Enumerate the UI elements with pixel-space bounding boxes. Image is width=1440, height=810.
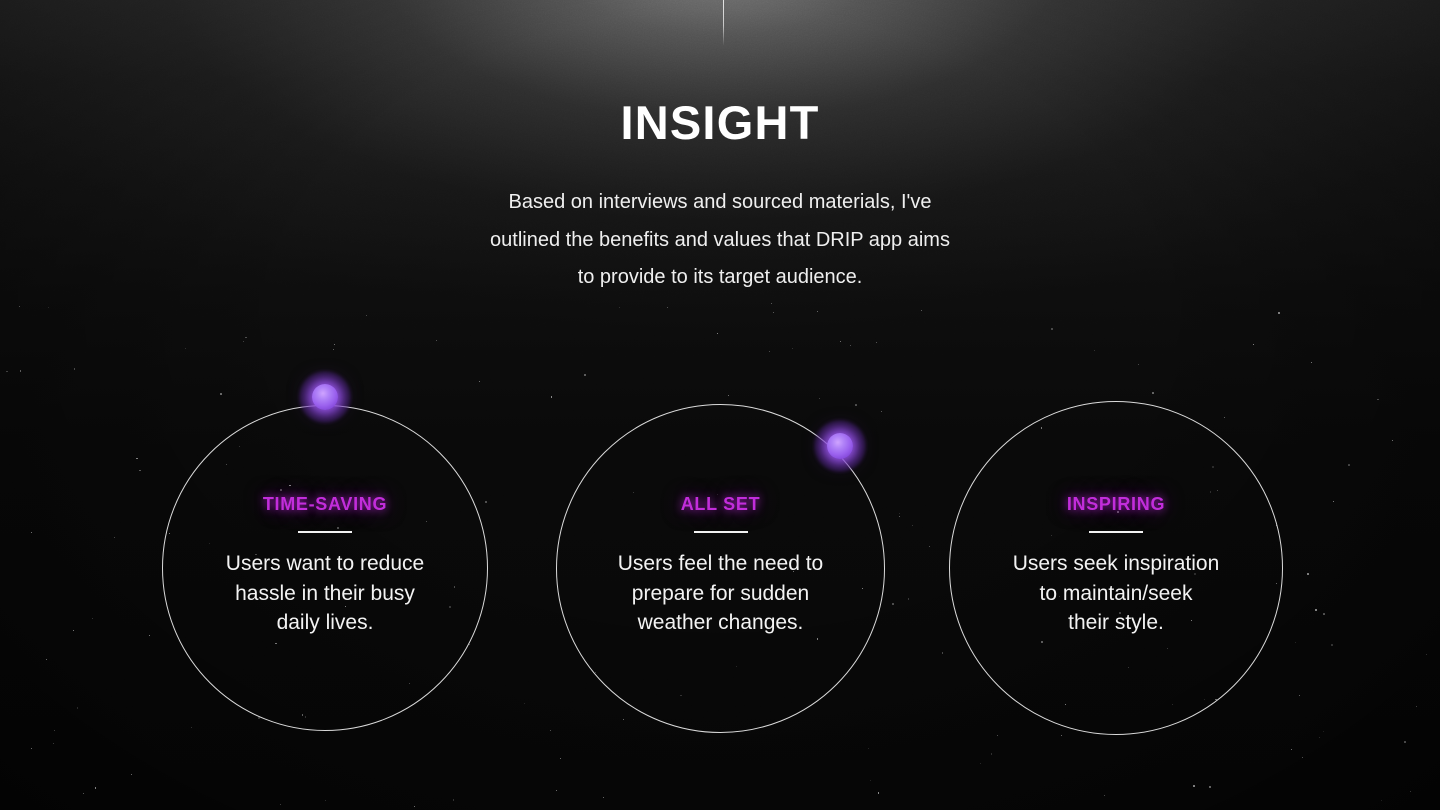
insight-circle-3-body: INSPIRING Users seek inspiration to main… [991, 494, 1241, 638]
insight-circle-3[interactable]: INSPIRING Users seek inspiration to main… [949, 401, 1283, 735]
insight-circle-1-body: TIME-SAVING Users want to reduce hassle … [200, 494, 450, 638]
text-line: Users feel the need to [596, 549, 846, 579]
orb-core [312, 384, 338, 410]
insight-circle-1-title: TIME-SAVING [200, 494, 450, 515]
text-line: Users want to reduce [200, 549, 450, 579]
text-line: prepare for sudden [596, 579, 846, 609]
insight-circle-2-body: ALL SET Users feel the need to prepare f… [596, 494, 846, 638]
divider [298, 531, 352, 533]
text-line: their style. [991, 608, 1241, 638]
text-line: to maintain/seek [991, 579, 1241, 609]
insight-circles-row: TIME-SAVING Users want to reduce hassle … [0, 0, 1440, 810]
insight-circle-3-title: INSPIRING [991, 494, 1241, 515]
divider [694, 531, 748, 533]
orbit-orb-1 [299, 371, 351, 423]
orbit-orb-2 [814, 420, 866, 472]
insight-slide: INSIGHT Based on interviews and sourced … [0, 0, 1440, 810]
text-line: daily lives. [200, 608, 450, 638]
insight-circle-2-title: ALL SET [596, 494, 846, 515]
insight-circle-1[interactable]: TIME-SAVING Users want to reduce hassle … [162, 405, 488, 731]
text-line: hassle in their busy [200, 579, 450, 609]
insight-circle-1-text: Users want to reduce hassle in their bus… [200, 549, 450, 638]
orb-core [827, 433, 853, 459]
text-line: weather changes. [596, 608, 846, 638]
text-line: Users seek inspiration [991, 549, 1241, 579]
divider [1089, 531, 1143, 533]
insight-circle-2-text: Users feel the need to prepare for sudde… [596, 549, 846, 638]
insight-circle-3-text: Users seek inspiration to maintain/seek … [991, 549, 1241, 638]
